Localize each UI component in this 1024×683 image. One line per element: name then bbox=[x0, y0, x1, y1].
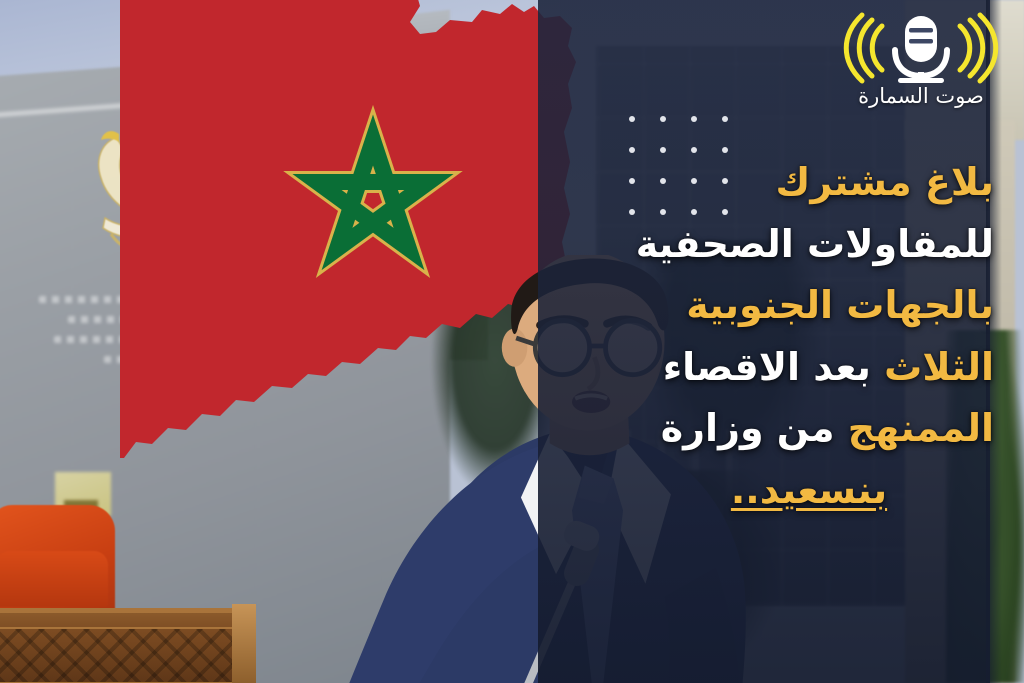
headline-line-5-white: من وزارة bbox=[661, 406, 848, 450]
decorative-dot bbox=[691, 116, 697, 122]
headline-text: بلاغ مشترك للمقاولات الصحفية بالجهات الج… bbox=[594, 152, 994, 521]
headline-line-4-gold: الثلاث bbox=[884, 345, 994, 389]
news-graphic-canvas: صوت السمارة بلاغ مشترك للمقاولات الصحفية… bbox=[0, 0, 1024, 683]
headline-line-3-gold: بالجهات الجنوبية bbox=[686, 283, 994, 327]
headline-line-2-white: للمقاولات الصحفية bbox=[636, 222, 994, 266]
headline-line-6: بنسعيد.. bbox=[594, 460, 994, 522]
logo-brand-name: صوت السمارة bbox=[836, 86, 1006, 107]
decorative-dot bbox=[629, 116, 635, 122]
headline-line-6-gold: بنسعيد.. bbox=[731, 468, 887, 512]
headline-line-4-white: بعد الاقصاء bbox=[663, 345, 884, 389]
headline-line-5-gold: الممنهج bbox=[848, 406, 994, 450]
decorative-dot bbox=[722, 116, 728, 122]
podium-side-panel bbox=[232, 604, 256, 683]
headline-line-1-gold: بلاغ مشترك bbox=[776, 160, 994, 204]
channel-logo[interactable]: صوت السمارة bbox=[836, 12, 1006, 124]
headline-line-1: بلاغ مشترك bbox=[594, 152, 994, 214]
microphone-icon bbox=[836, 12, 1006, 84]
headline-line-4: الثلاث بعد الاقصاء bbox=[594, 337, 994, 399]
carved-wooden-podium bbox=[0, 608, 253, 683]
headline-line-2: للمقاولات الصحفية bbox=[594, 214, 994, 276]
headline-line-3: بالجهات الجنوبية bbox=[594, 275, 994, 337]
decorative-dot bbox=[660, 116, 666, 122]
headline-line-5: الممنهج من وزارة bbox=[594, 398, 994, 460]
